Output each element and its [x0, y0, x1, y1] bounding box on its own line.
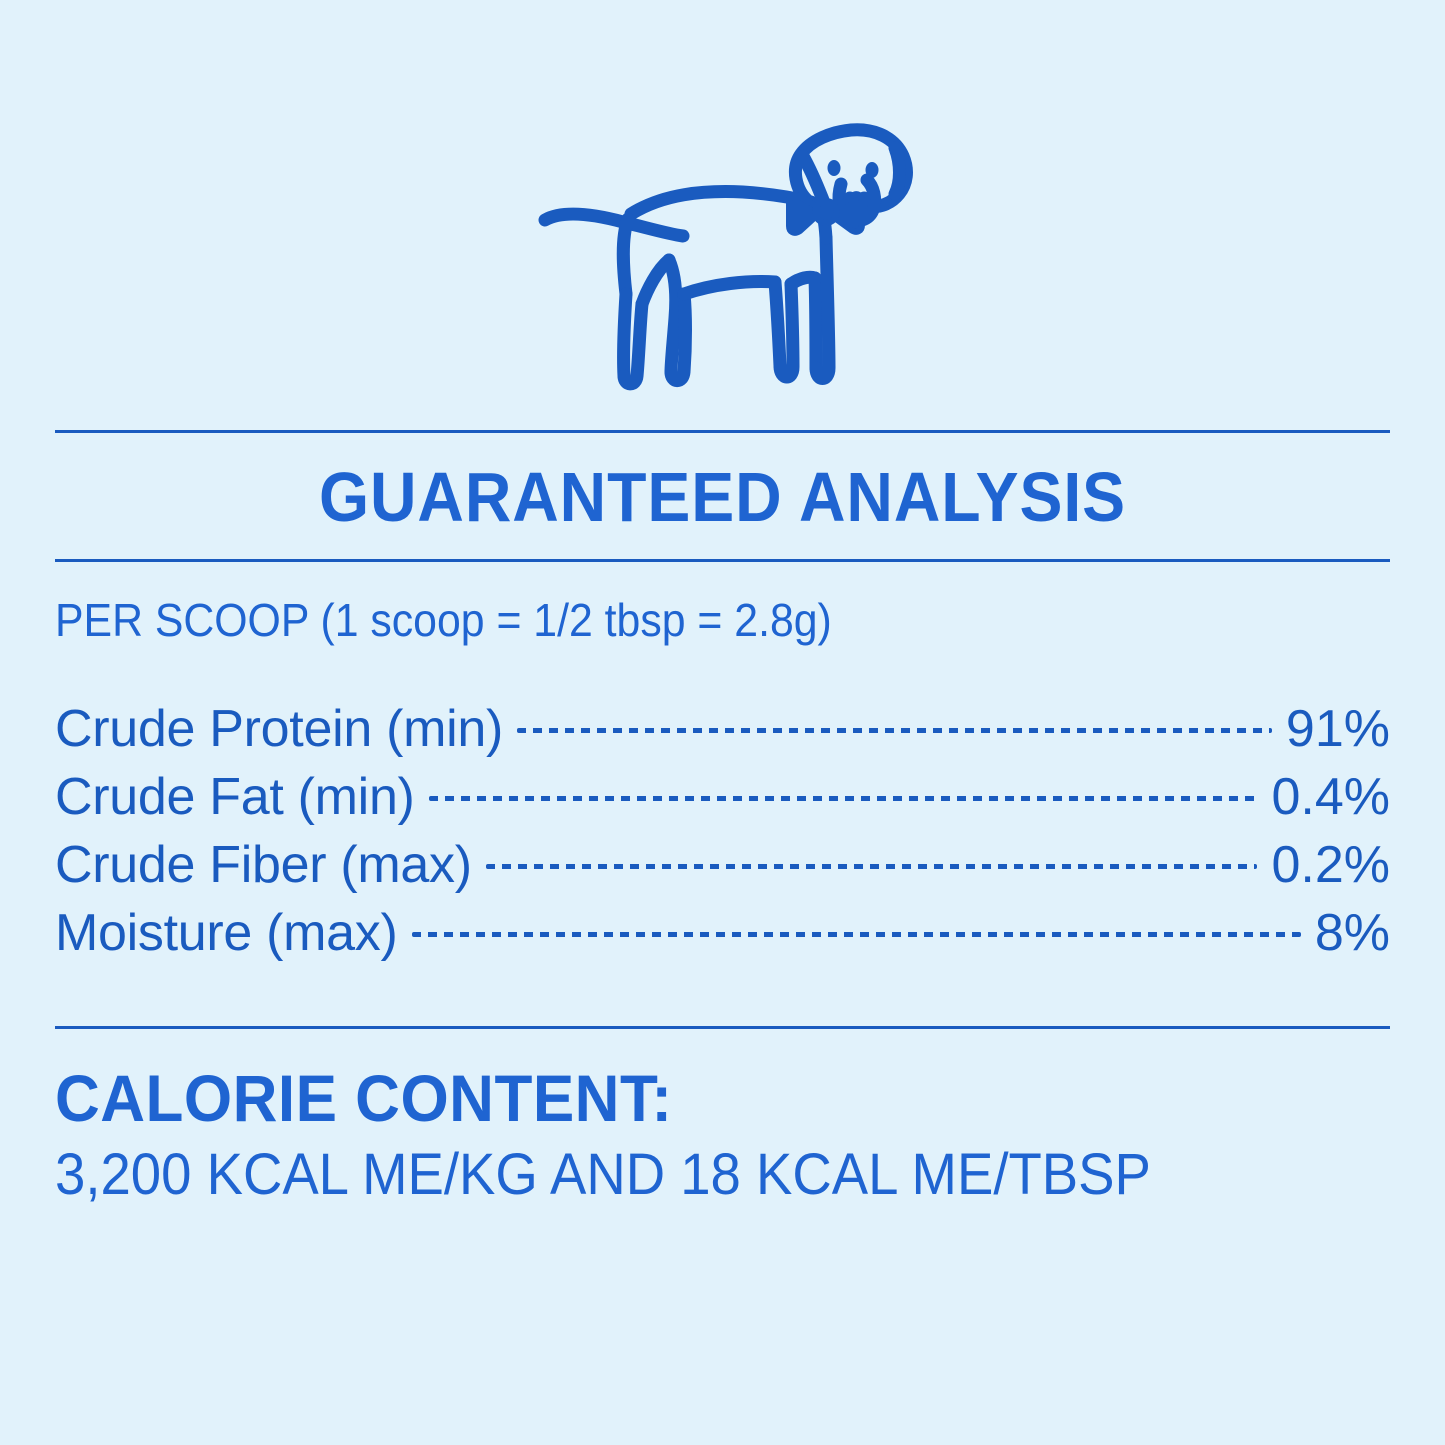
calorie-content-heading: CALORIE CONTENT: [55, 1058, 1315, 1138]
nutrient-value: 8% [1315, 899, 1390, 967]
calorie-content-detail: 3,200 KCAL ME/KG AND 18 KCAL ME/TBSP [55, 1138, 1315, 1212]
table-row: Crude Protein (min) 91% [55, 678, 1390, 746]
analysis-table: Crude Protein (min) 91% Crude Fat (min) … [55, 678, 1390, 950]
divider-top [55, 430, 1390, 433]
dog-with-bowtie-icon [0, 118, 1445, 408]
dog-eye-right [865, 162, 878, 178]
nutrient-label: Moisture (max) [55, 899, 398, 967]
nutrient-label: Crude Fiber (max) [55, 831, 472, 899]
dotted-leader [517, 678, 1272, 746]
calorie-content-section: CALORIE CONTENT: 3,200 KCAL ME/KG AND 18… [55, 1058, 1395, 1212]
nutrient-label: Crude Fat (min) [55, 763, 415, 831]
dotted-leader [486, 814, 1258, 882]
dog-eye-left [827, 160, 840, 176]
page-title: GUARANTEED ANALYSIS [58, 452, 1387, 542]
nutrient-value: 0.4% [1271, 763, 1390, 831]
nutrient-value: 91% [1286, 695, 1390, 763]
divider-middle [55, 559, 1390, 562]
serving-size-note: PER SCOOP (1 scoop = 1/2 tbsp = 2.8g) [55, 592, 832, 648]
divider-bottom [55, 1026, 1390, 1029]
guaranteed-analysis-label: GUARANTEED ANALYSIS PER SCOOP (1 scoop =… [0, 0, 1445, 1445]
dotted-leader [412, 882, 1301, 950]
dotted-leader [429, 746, 1258, 814]
